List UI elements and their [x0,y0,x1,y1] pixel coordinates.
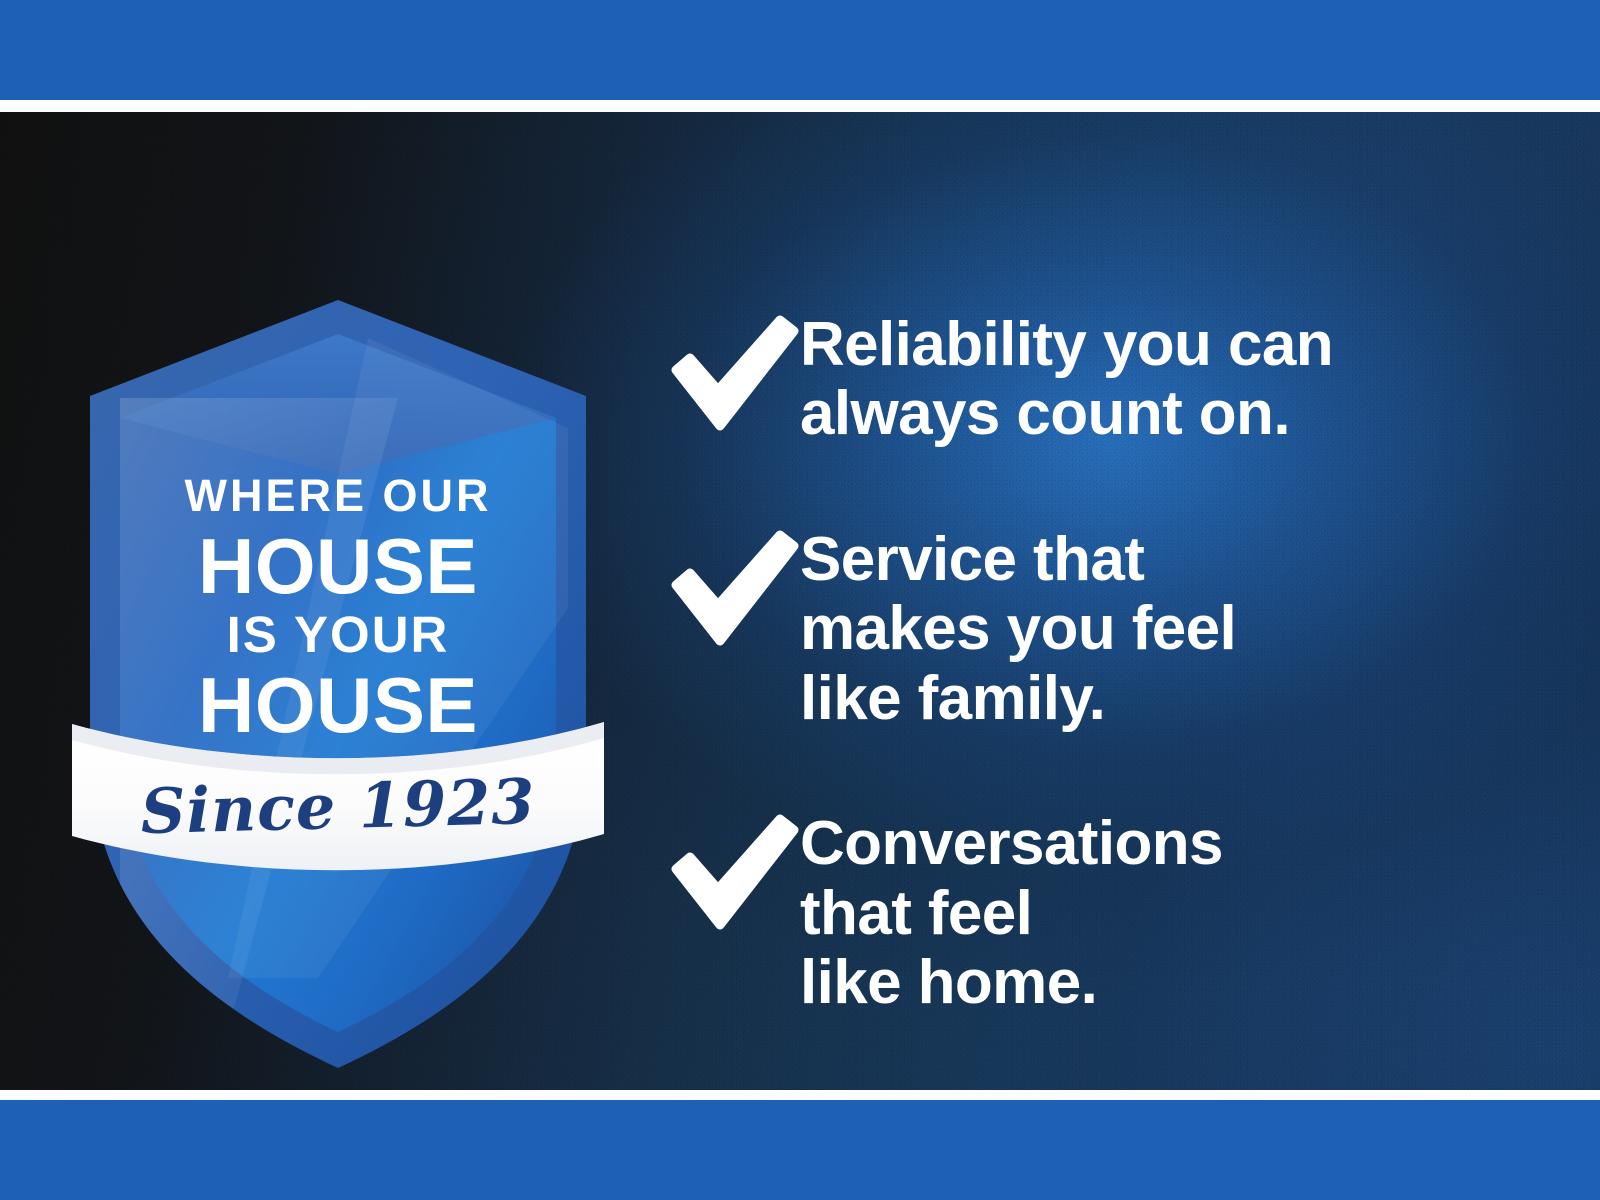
bottom-brand-bar [0,1100,1600,1200]
shield-graphic [68,278,608,1068]
benefit-line: always count on. [800,379,1548,448]
benefit-text: Conversations that feel like home. [800,807,1548,1017]
benefit-line: Reliability you can [800,310,1548,379]
benefits-list: Reliability you can always count on. Ser… [668,308,1548,1018]
benefit-line: like family. [800,664,1548,733]
check-icon [668,813,800,931]
benefit-item: Service that makes you feel like family. [668,523,1548,733]
check-icon [668,314,800,432]
benefit-line: Conversations [800,809,1548,878]
benefit-item: Conversations that feel like home. [668,807,1548,1017]
promo-poster: WHERE OUR HOUSE IS YOUR HOUSE Since 1923… [0,0,1600,1200]
benefit-line: like home. [800,948,1548,1017]
benefit-line: that feel [800,879,1548,948]
check-icon [668,529,800,647]
benefit-text: Reliability you can always count on. [800,308,1548,449]
benefit-text: Service that makes you feel like family. [800,523,1548,733]
main-panel: WHERE OUR HOUSE IS YOUR HOUSE Since 1923… [0,112,1600,1090]
benefit-line: makes you feel [800,594,1548,663]
benefit-item: Reliability you can always count on. [668,308,1548,449]
benefit-line: Service that [800,525,1548,594]
shield-badge: WHERE OUR HOUSE IS YOUR HOUSE Since 1923 [68,278,608,1068]
top-brand-bar [0,0,1600,100]
